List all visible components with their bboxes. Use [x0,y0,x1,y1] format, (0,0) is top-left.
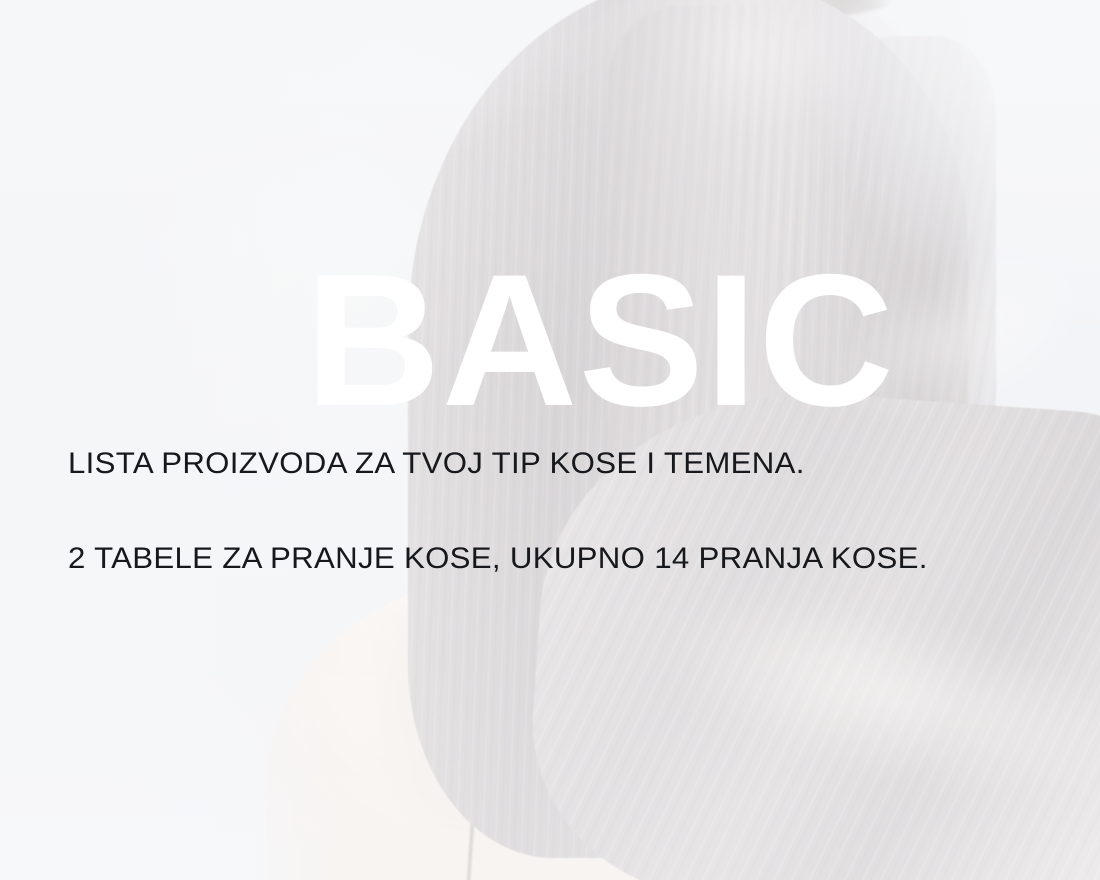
subtitle-line-2: 2 TABELE ZA PRANJE KOSE, UKUPNO 14 PRANJ… [68,541,928,577]
poster-content: BASIC LISTA PROIZVODA ZA TVOJ TIP KOSE I… [0,0,1100,880]
page-title: BASIC [305,246,895,434]
promo-poster: BASIC LISTA PROIZVODA ZA TVOJ TIP KOSE I… [0,0,1100,880]
subtitle-line-1: LISTA PROIZVODA ZA TVOJ TIP KOSE I TEMEN… [68,446,805,482]
